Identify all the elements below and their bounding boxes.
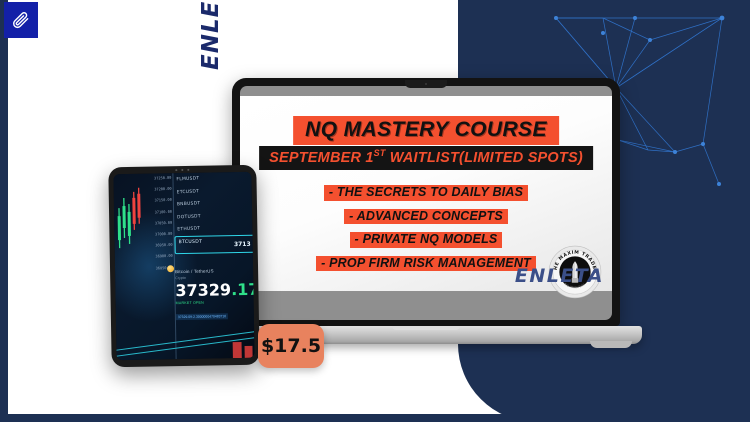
list-item[interactable]: ETCUSDT: [177, 187, 252, 195]
price-value: $17.5: [261, 335, 321, 357]
tablet-sensor-icon: [175, 169, 189, 171]
laptop-mockup: NQ MASTERY COURSE SEPTEMBER 1ST WAITLIST…: [232, 78, 620, 344]
market-status: MARKET OPEN: [176, 300, 254, 305]
selected-ticker-price: 3713: [234, 241, 251, 248]
laptop-foot: [590, 341, 632, 348]
tablet-mockup: 37250.00 37200.00 37150.00 37100.00 3705…: [108, 165, 259, 368]
coin-icon: [167, 265, 174, 272]
slide-title-text: NQ MASTERY COURSE: [305, 118, 547, 141]
list-item[interactable]: BNBUSDT: [177, 200, 252, 208]
laptop-screen: NQ MASTERY COURSE SEPTEMBER 1ST WAITLIST…: [240, 86, 612, 320]
slide-watermark: ENLETA: [515, 265, 604, 287]
selected-ticker-label: BTCUSDT: [179, 240, 203, 245]
axis-tick: 37150.00: [140, 199, 172, 204]
frame-border-bottom: [0, 414, 750, 422]
attachment-badge[interactable]: [4, 2, 38, 38]
list-item: - PROP FIRM RISK MANAGEMENT: [316, 256, 536, 272]
price-badge[interactable]: $17.5: [258, 324, 324, 368]
list-item[interactable]: ETHUSDT: [177, 225, 252, 233]
axis-tick: 37000.00: [140, 233, 172, 238]
slide-subtitle: SEPTEMBER 1ST WAITLIST(LIMITED SPOTS): [259, 146, 593, 170]
poster-canvas: ENLETA NQ MASTERY COURSE SEPTEMBER 1ST W…: [0, 0, 750, 422]
laptop-lid: NQ MASTERY COURSE SEPTEMBER 1ST WAITLIST…: [232, 78, 620, 326]
volume-bars: [116, 318, 255, 360]
list-item: - ADVANCED CONCEPTS: [344, 209, 508, 225]
tablet-screen: 37250.00 37200.00 37150.00 37100.00 3705…: [113, 172, 254, 360]
last-price: 37329.17USDT: [175, 282, 253, 299]
list-item[interactable]: DOTUSDT: [177, 212, 252, 220]
webcam-notch-icon: [405, 80, 447, 88]
axis-tick: 37050.00: [140, 221, 172, 226]
axis-tick: 37250.00: [139, 177, 171, 182]
course-slide: NQ MASTERY COURSE SEPTEMBER 1ST WAITLIST…: [240, 96, 612, 291]
quote-panel: Bitcoin / TetherUS Crypto 37329.17USDT M…: [175, 268, 254, 323]
axis-tick: 36900.00: [141, 255, 173, 260]
ticker-list: FLMUSDT ETCUSDT BNBUSDT DOTUSDT ETHUSDT: [176, 176, 252, 240]
frame-border-left: [0, 0, 8, 422]
axis-tick: 36950.00: [141, 244, 173, 249]
axis-tick: 37100.00: [140, 210, 172, 215]
slide-subtitle-text: SEPTEMBER 1ST WAITLIST(LIMITED SPOTS): [269, 150, 583, 166]
paperclip-icon: [11, 10, 31, 30]
pair-name: Bitcoin / TetherUS: [175, 268, 253, 274]
list-item: - PRIVATE NQ MODELS: [350, 232, 503, 248]
side-watermark: ENLETA: [198, 0, 224, 70]
axis-tick: 37200.00: [140, 188, 172, 193]
slide-title: NQ MASTERY COURSE: [293, 116, 559, 145]
list-item: - THE SECRETS TO DAILY BIAS: [324, 185, 528, 201]
